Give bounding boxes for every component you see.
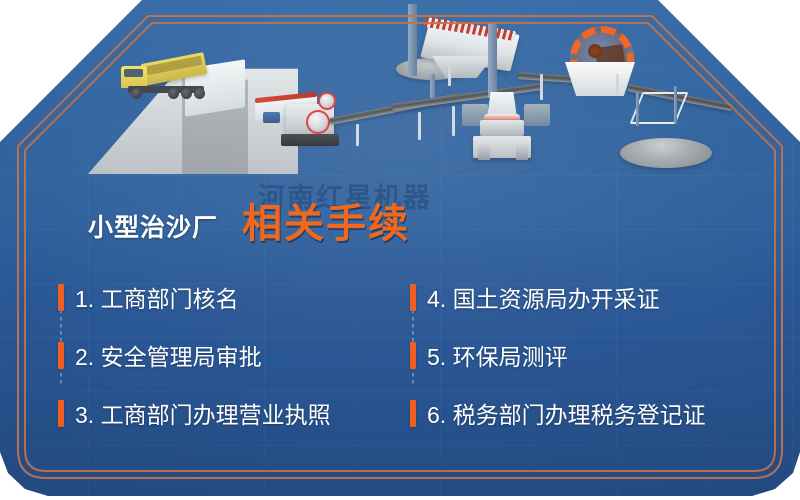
bullet-marker	[410, 342, 416, 369]
title-subtitle: 小型治沙厂	[88, 216, 218, 244]
procedure-list: 1. 工商部门核名 2. 安全管理局审批 3. 工商部门办理营业执照 4. 国土…	[58, 268, 758, 448]
poster-panel: 河南红星机器 小型治沙厂 相关手续 1. 工商部门核名 2. 安全管理局审批	[0, 0, 800, 500]
bullet-marker	[410, 400, 416, 427]
procedure-column-left: 1. 工商部门核名 2. 安全管理局审批 3. 工商部门办理营业执照	[58, 268, 408, 442]
list-item[interactable]: 1. 工商部门核名	[58, 268, 408, 326]
bullet-marker	[58, 342, 64, 369]
title-main: 相关手续	[242, 204, 410, 244]
list-item-label: 3. 工商部门办理营业执照	[75, 396, 331, 430]
poster-title: 小型治沙厂 相关手续	[88, 198, 410, 244]
list-item[interactable]: 3. 工商部门办理营业执照	[58, 384, 408, 442]
bullet-marker	[58, 400, 64, 427]
bullet-marker	[410, 284, 416, 311]
bullet-marker	[58, 284, 64, 311]
list-item[interactable]: 5. 环保局测评	[410, 326, 758, 384]
procedure-column-right: 4. 国土资源局办开采证 5. 环保局测评 6. 税务部门办理税务登记证	[410, 268, 758, 442]
list-item-label: 4. 国土资源局办开采证	[427, 280, 660, 314]
material-pile-far	[766, 22, 800, 38]
list-item[interactable]: 2. 安全管理局审批	[58, 326, 408, 384]
list-item-label: 1. 工商部门核名	[75, 280, 239, 314]
poster-stage: 河南红星机器 小型治沙厂 相关手续 1. 工商部门核名 2. 安全管理局审批	[0, 0, 800, 500]
list-item-label: 6. 税务部门办理税务登记证	[427, 396, 706, 430]
list-item[interactable]: 6. 税务部门办理税务登记证	[410, 384, 758, 442]
list-item[interactable]: 4. 国土资源局办开采证	[410, 268, 758, 326]
list-item-label: 2. 安全管理局审批	[75, 338, 262, 372]
list-item-label: 5. 环保局测评	[427, 338, 568, 372]
